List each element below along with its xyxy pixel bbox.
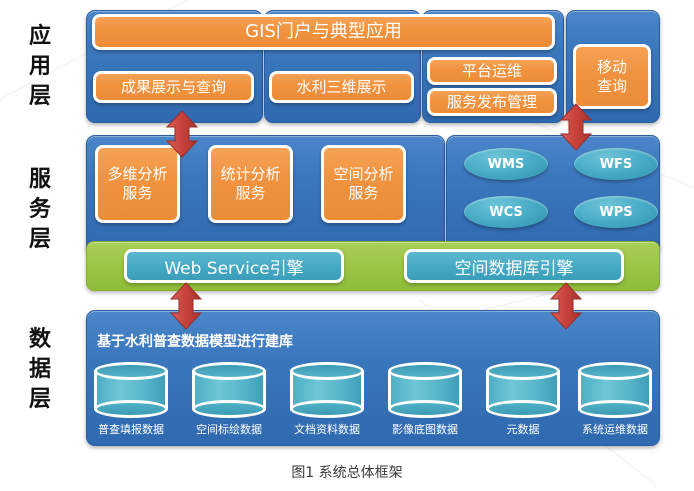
layer-char: 应 — [14, 22, 66, 52]
layer-char: 用 — [14, 52, 66, 82]
svc-line1: 统计分析 — [220, 165, 280, 184]
database-label-spatial-mark: 空间标绘数据 — [192, 421, 266, 437]
database-label-census: 普查填报数据 — [94, 421, 168, 437]
database-label-metadata: 元数据 — [486, 421, 560, 437]
database-label-imagery: 影像底图数据 — [388, 421, 462, 437]
svc-line2: 服务 — [235, 184, 265, 203]
cylinder-bottom — [388, 400, 462, 418]
engine-spatial-db[interactable]: 空间数据库引擎 — [404, 249, 624, 283]
layer-label-data: 数 据 层 — [14, 325, 66, 415]
database-cylinder[interactable] — [578, 362, 652, 418]
app-item-mobile-query[interactable]: 移动 查询 — [573, 44, 651, 109]
database-cylinder[interactable] — [290, 362, 364, 418]
cylinder-bottom — [192, 400, 266, 418]
arrow-app-service-left — [164, 110, 200, 162]
ogc-service-wcs[interactable]: WCS — [464, 196, 548, 228]
cylinder-top — [486, 362, 560, 380]
svc-line2: 服务 — [348, 184, 378, 203]
data-model-title: 基于水利普查数据模型进行建库 — [97, 331, 293, 351]
engine-web-service[interactable]: Web Service引擎 — [124, 249, 344, 283]
service-statistical-analysis[interactable]: 统计分析 服务 — [208, 145, 293, 223]
cylinder-top — [290, 362, 364, 380]
layer-char: 务 — [14, 195, 66, 225]
database-cylinder[interactable] — [486, 362, 560, 418]
database-cylinder[interactable] — [388, 362, 462, 418]
layer-char: 层 — [14, 82, 66, 112]
database-label-system-ops: 系统运维数据 — [572, 421, 658, 437]
ogc-service-wms[interactable]: WMS — [464, 148, 548, 180]
layer-char: 服 — [14, 165, 66, 195]
cylinder-top — [388, 362, 462, 380]
svc-line2: 服务 — [122, 184, 152, 203]
mobile-query-line1: 移动 — [597, 58, 627, 77]
cylinder-bottom — [290, 400, 364, 418]
cylinder-top — [192, 362, 266, 380]
app-item-service-publish[interactable]: 服务发布管理 — [427, 88, 557, 116]
app-item-3d-display[interactable]: 水利三维展示 — [269, 71, 414, 103]
arrow-service-data-right — [548, 282, 584, 334]
arrow-app-service-right — [558, 103, 594, 155]
svc-line1: 空间分析 — [333, 165, 393, 184]
layer-label-service: 服 务 层 — [14, 165, 66, 255]
layer-char: 层 — [14, 225, 66, 255]
diagram-canvas: 应 用 层 服 务 层 数 据 层 GIS门户与典型应用 成果展示与查询 水利三… — [0, 0, 694, 491]
mobile-query-line2: 查询 — [597, 77, 627, 96]
gis-portal-banner[interactable]: GIS门户与典型应用 — [92, 14, 555, 50]
database-label-document: 文档资料数据 — [290, 421, 364, 437]
app-item-platform-ops[interactable]: 平台运维 — [427, 57, 557, 85]
service-spatial-analysis[interactable]: 空间分析 服务 — [321, 145, 406, 223]
cylinder-top — [578, 362, 652, 380]
ogc-service-wps[interactable]: WPS — [574, 196, 658, 228]
cylinder-bottom — [578, 400, 652, 418]
layer-char: 数 — [14, 325, 66, 355]
arrow-service-data-left — [168, 282, 204, 334]
database-cylinder[interactable] — [94, 362, 168, 418]
cylinder-bottom — [94, 400, 168, 418]
database-cylinder[interactable] — [192, 362, 266, 418]
svc-line1: 多维分析 — [107, 165, 167, 184]
app-item-result-display[interactable]: 成果展示与查询 — [93, 71, 254, 103]
cylinder-top — [94, 362, 168, 380]
cylinder-bottom — [486, 400, 560, 418]
figure-caption: 图1 系统总体框架 — [0, 462, 694, 482]
layer-char: 据 — [14, 355, 66, 385]
layer-label-application: 应 用 层 — [14, 22, 66, 112]
layer-char: 层 — [14, 385, 66, 415]
